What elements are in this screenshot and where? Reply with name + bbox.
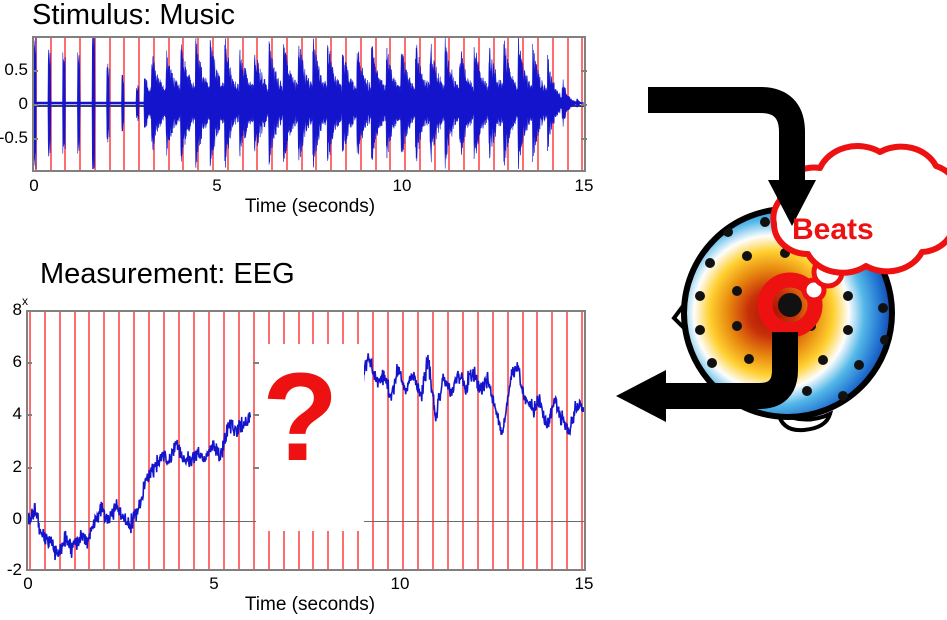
eeg-yaxis-unit: x	[22, 294, 28, 308]
eeg-ytick-mark	[253, 414, 259, 416]
eeg-ytick-2: 4	[0, 404, 22, 424]
eeg-xtick-2: 10	[391, 574, 410, 594]
eeg-ytick-mark	[253, 467, 259, 469]
eeg-ytick-4: 0	[0, 509, 22, 529]
eeg-plot: x 8 6 4 2 0 -2 ? 0 5 10 15 Time (seconds…	[0, 0, 620, 620]
eeg-xtick-1: 5	[209, 574, 218, 594]
eeg-xaxis-title: Time (seconds)	[245, 594, 375, 616]
eeg-trace-path	[28, 412, 250, 560]
eeg-ytick-0: 8	[0, 300, 22, 320]
active-electrode-dot	[778, 293, 802, 317]
brain-diagram-svg	[600, 60, 947, 460]
eeg-ytick-mark	[26, 362, 32, 364]
brain-to-eeg-arrowhead-icon	[616, 370, 666, 422]
eeg-ytick-mark	[26, 414, 32, 416]
eeg-xtick-3: 15	[575, 574, 594, 594]
thought-bubble-label: Beats	[792, 213, 874, 247]
brain-diagram: Beats	[600, 60, 947, 460]
figure-root: Stimulus: Music 0.5 0 -0.5 0 5 10 15 Tim…	[0, 0, 947, 620]
eeg-ytick-mark	[253, 362, 259, 364]
eeg-ytick-mark	[26, 467, 32, 469]
eeg-ytick-3: 2	[0, 457, 22, 477]
eeg-xtick-0: 0	[23, 574, 32, 594]
stimulus-to-brain-arrow-shaft	[648, 100, 792, 182]
eeg-ytick-5: -2	[0, 560, 22, 580]
eeg-trace-path	[362, 353, 584, 435]
eeg-ytick-1: 6	[0, 352, 22, 372]
eeg-question-mark: ?	[262, 355, 338, 480]
